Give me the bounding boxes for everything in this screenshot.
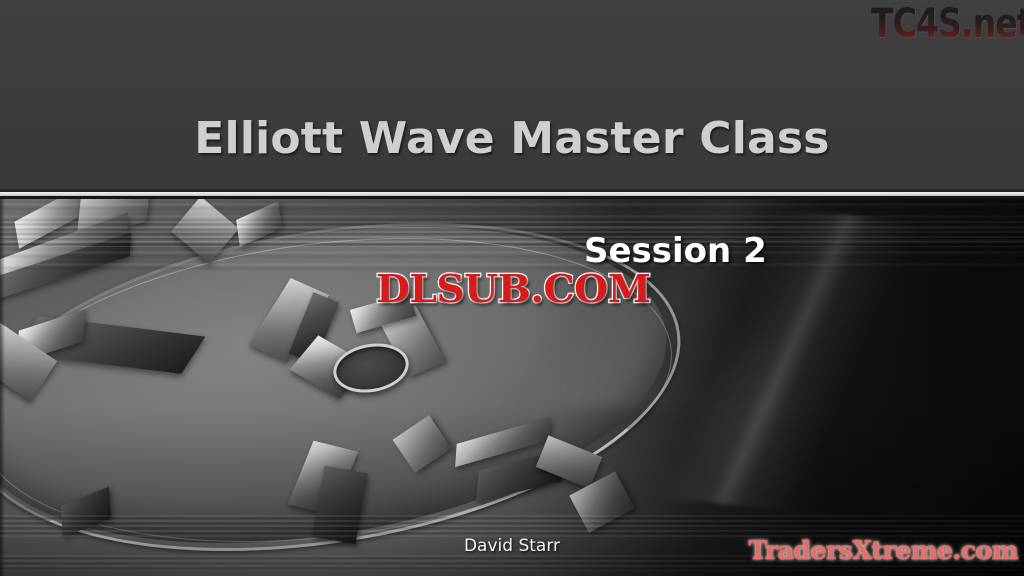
presentation-slide: Elliott Wave Master Class TC4S.net — [0, 0, 1024, 576]
page-title: Elliott Wave Master Class — [0, 113, 1024, 164]
divider — [0, 189, 1024, 199]
dlsub-watermark: DLSUB.COM — [376, 266, 651, 311]
session-label: Session 2 — [584, 231, 767, 271]
tradersxtreme-watermark: TradersXtreme.com — [749, 536, 1018, 565]
slide-artwork — [0, 199, 1024, 576]
tc4s-watermark: TC4S.net — [871, 1, 1024, 47]
